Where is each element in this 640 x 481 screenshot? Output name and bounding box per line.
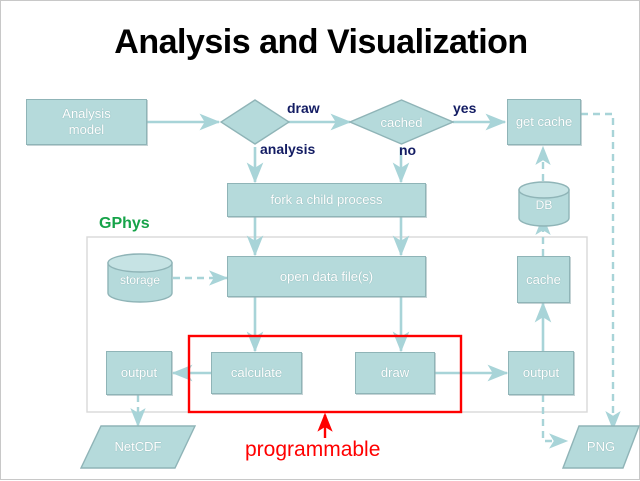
node-cache-label: cache (520, 272, 567, 288)
node-open-data-files[interactable]: open data file(s) (227, 256, 426, 297)
db-cylinder-shape (518, 181, 570, 227)
node-open-data-files-label: open data file(s) (280, 269, 373, 285)
gphys-group-label: GPhys (99, 215, 150, 233)
node-analysis-model[interactable]: Analysis model (26, 99, 147, 145)
node-fork-child-process[interactable]: fork a child process (227, 183, 426, 217)
node-output-right[interactable]: output (508, 351, 574, 395)
node-cache[interactable]: cache (517, 256, 570, 303)
netcdf-parallelogram-shape (80, 425, 196, 469)
diamond-1-shape (220, 99, 290, 145)
node-db[interactable]: DB (518, 181, 570, 227)
node-analysis-model-label: Analysis model (56, 106, 116, 138)
programmable-label: programmable (245, 438, 380, 462)
edge-label-yes: yes (453, 100, 476, 116)
node-netcdf[interactable]: NetCDF (80, 425, 196, 469)
node-decision-1[interactable] (220, 99, 290, 145)
node-calculate[interactable]: calculate (211, 352, 302, 394)
node-draw[interactable]: draw (355, 352, 435, 394)
edge-label-analysis: analysis (260, 141, 315, 157)
edge-getcache-to-png (581, 114, 613, 429)
slide-canvas: Analysis and Visualization (0, 0, 640, 480)
connector-layer (1, 1, 640, 481)
edge-label-draw: draw (287, 100, 320, 116)
node-get-cache-label: get cache (516, 114, 572, 130)
node-storage[interactable]: storage (107, 253, 173, 303)
node-output-left[interactable]: output (106, 351, 172, 395)
node-decision-cached[interactable]: cached (349, 99, 454, 145)
node-output-right-label: output (523, 365, 559, 381)
node-get-cache[interactable]: get cache (507, 99, 581, 145)
diamond-cached-shape (349, 99, 454, 145)
node-fork-child-process-label: fork a child process (271, 192, 383, 208)
png-parallelogram-shape (562, 425, 640, 469)
node-output-left-label: output (121, 365, 157, 381)
node-calculate-label: calculate (231, 365, 282, 381)
edge-label-no: no (399, 142, 416, 158)
node-draw-label: draw (381, 365, 409, 381)
storage-cylinder-shape (107, 253, 173, 303)
node-png[interactable]: PNG (562, 425, 640, 469)
